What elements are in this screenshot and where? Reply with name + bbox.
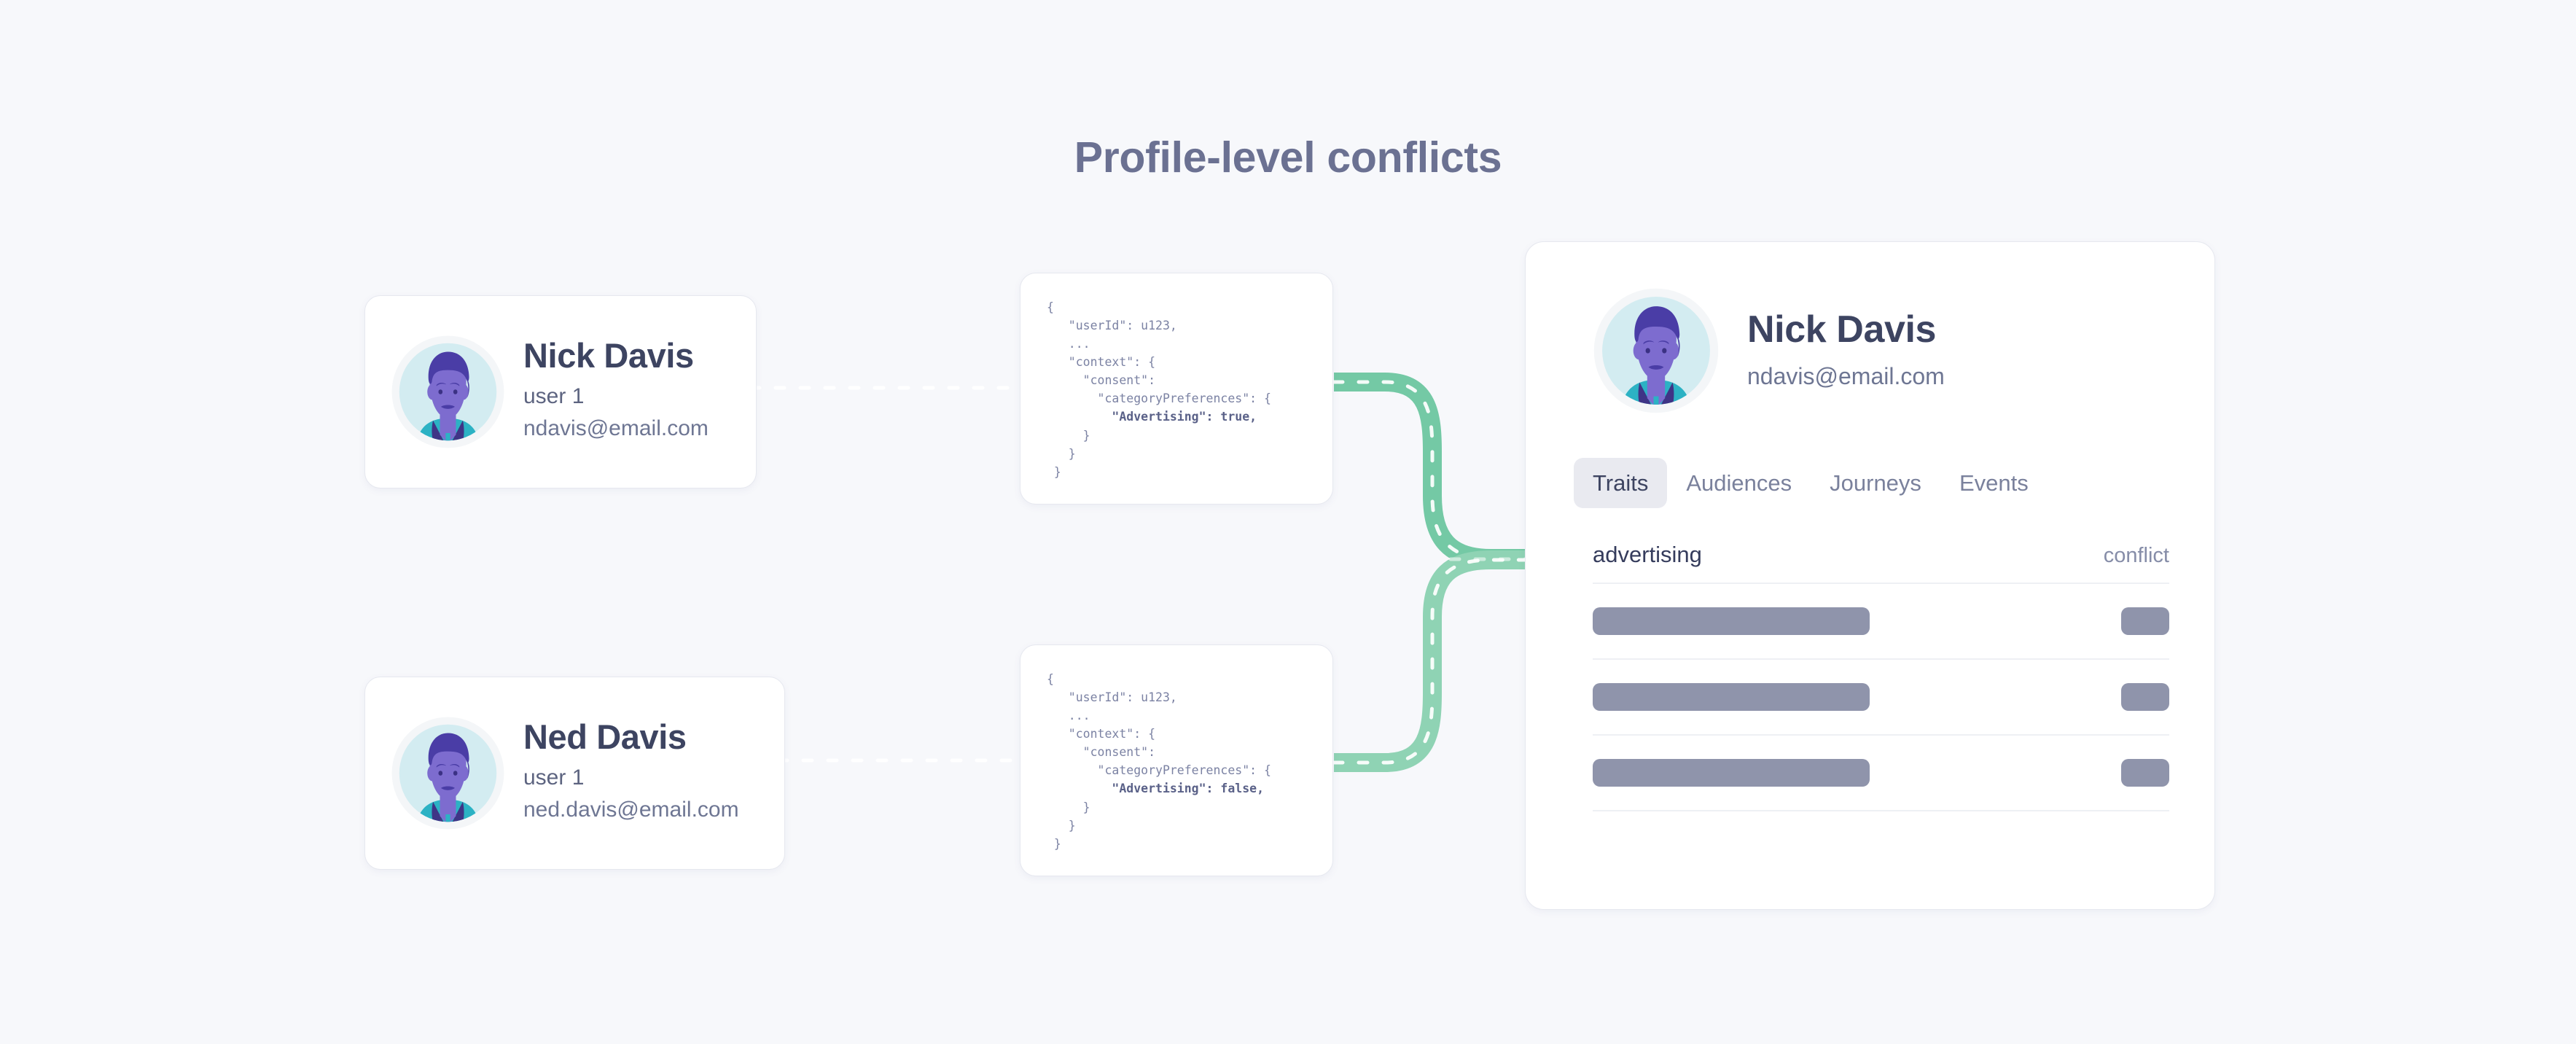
profile-email: ndavis@email.com [523, 413, 709, 445]
code-line: "context": { [1047, 727, 1155, 741]
avatar-icon [391, 716, 505, 830]
traits-table: advertising conflict [1593, 543, 2169, 811]
avatar-icon [1593, 287, 1720, 414]
skeleton-pill-status [2121, 607, 2169, 635]
code-line: { [1047, 672, 1054, 686]
detail-panel-identity: Nick Davis ndavis@email.com [1747, 308, 1945, 394]
profile-subtitle: user 1 [523, 381, 709, 413]
code-line: "consent": [1047, 745, 1155, 759]
column-header-status: conflict [2104, 545, 2169, 566]
connector-code2-to-panel [1334, 560, 1531, 763]
profile-subtitle: user 1 [523, 762, 739, 794]
table-row[interactable] [1593, 736, 2169, 811]
skeleton-pill-status [2121, 759, 2169, 787]
profile-card-text: Ned Davis user 1 ned.davis@email.com [523, 718, 739, 829]
profile-detail-panel: Nick Davis ndavis@email.com Traits Audie… [1525, 241, 2215, 910]
code-line: } [1047, 429, 1090, 443]
code-payload-card-advertising-true: { "userId": u123, ... "context": { "cons… [1020, 273, 1333, 505]
table-row[interactable] [1593, 584, 2169, 660]
skeleton-bar-value [1593, 607, 1870, 635]
table-row[interactable] [1593, 660, 2169, 736]
profile-card-nick-davis[interactable]: Nick Davis user 1 ndavis@email.com [364, 295, 757, 488]
code-line: ... [1047, 337, 1090, 351]
code-line: "consent": [1047, 373, 1155, 387]
code-line: } [1047, 465, 1061, 479]
code-block: { "userId": u123, ... "context": { "cons… [1047, 298, 1311, 481]
skeleton-bar-value [1593, 759, 1870, 787]
code-line: } [1047, 800, 1090, 814]
code-line: } [1047, 837, 1061, 851]
profile-card-text: Nick Davis user 1 ndavis@email.com [523, 337, 709, 448]
diagram-canvas: Profile-level conflicts [0, 0, 2576, 1044]
code-line: } [1047, 447, 1076, 461]
avatar-icon [391, 335, 505, 449]
profile-name: Nick Davis [523, 337, 709, 375]
code-line: ... [1047, 709, 1090, 722]
code-line: "userId": u123, [1047, 319, 1177, 332]
code-line: "Advertising": true, [1047, 410, 1257, 424]
tab-audiences[interactable]: Audiences [1667, 458, 1811, 508]
detail-panel-tabs: Traits Audiences Journeys Events [1574, 458, 2169, 508]
code-line: "categoryPreferences": { [1047, 763, 1271, 777]
code-line: { [1047, 300, 1054, 314]
column-header-trait: advertising [1593, 543, 1702, 566]
profile-email: ned.davis@email.com [523, 794, 739, 826]
detail-panel-header: Nick Davis ndavis@email.com [1593, 287, 2169, 414]
tab-journeys[interactable]: Journeys [1811, 458, 1940, 508]
code-payload-card-advertising-false: { "userId": u123, ... "context": { "cons… [1020, 644, 1333, 876]
code-line: } [1047, 819, 1076, 833]
skeleton-bar-value [1593, 683, 1870, 711]
tab-traits[interactable]: Traits [1574, 458, 1667, 508]
detail-profile-name: Nick Davis [1747, 308, 1945, 351]
code-line: "Advertising": false, [1047, 782, 1264, 795]
detail-profile-email: ndavis@email.com [1747, 359, 1945, 393]
code-line: "context": { [1047, 355, 1155, 369]
code-line: "categoryPreferences": { [1047, 391, 1271, 405]
profile-card-ned-davis[interactable]: Ned Davis user 1 ned.davis@email.com [364, 677, 785, 870]
tab-events[interactable]: Events [1940, 458, 2048, 508]
traits-table-header: advertising conflict [1593, 543, 2169, 584]
skeleton-pill-status [2121, 683, 2169, 711]
code-block: { "userId": u123, ... "context": { "cons… [1047, 670, 1311, 853]
code-line: "userId": u123, [1047, 690, 1177, 704]
connector-code1-to-panel [1334, 382, 1531, 558]
profile-name: Ned Davis [523, 718, 739, 757]
